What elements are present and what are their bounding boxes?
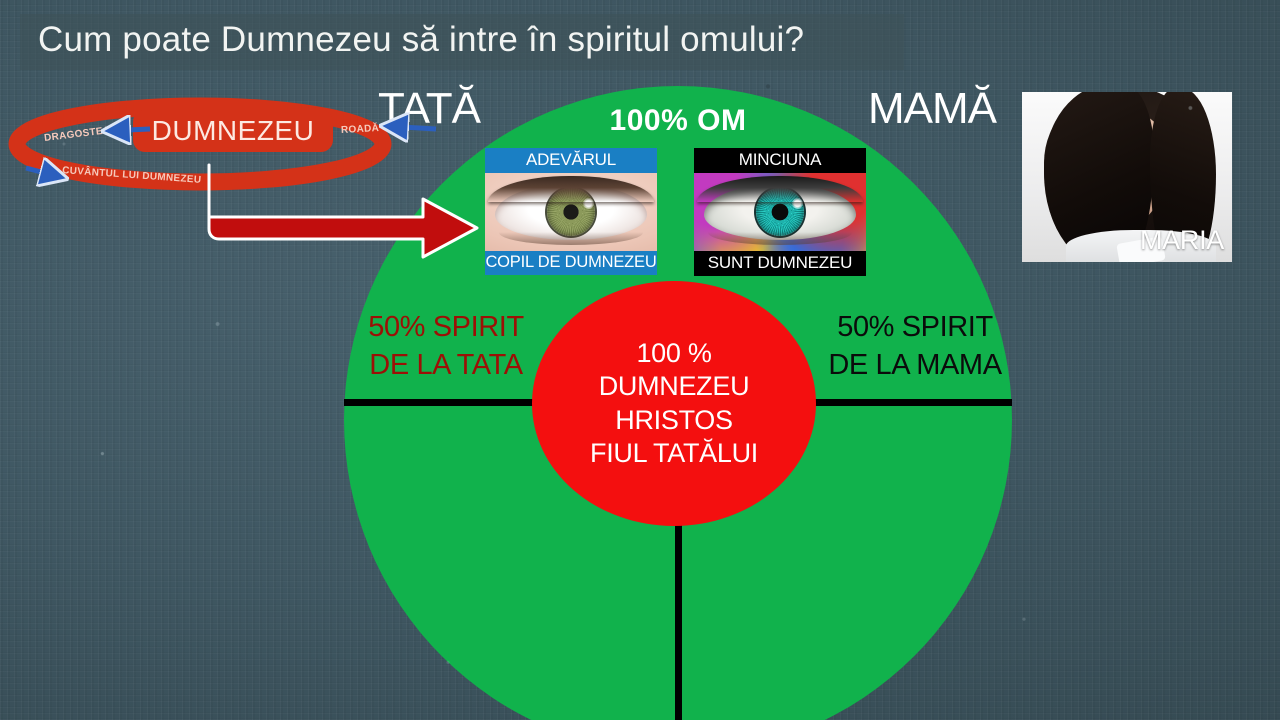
spirit-from-mother-label: 50% SPIRIT DE LA MAMA bbox=[820, 308, 1010, 385]
spirit-entry-arrow-icon bbox=[205, 155, 495, 275]
spirit-mother-line1: 50% SPIRIT bbox=[837, 311, 993, 343]
card-lie-top-caption: MINCIUNA bbox=[694, 148, 866, 173]
card-truth-top-caption: ADEVĂRUL bbox=[485, 148, 657, 173]
center-line-1: 100 % bbox=[636, 337, 711, 370]
arrow-roada-icon bbox=[378, 118, 444, 140]
loop-label-roada: ROADĂ bbox=[341, 123, 380, 136]
spirit-father-line2: DE LA TATA bbox=[369, 349, 522, 381]
arrow-dragostea-icon bbox=[98, 122, 158, 142]
maria-name-label: MARIA bbox=[1140, 225, 1224, 256]
center-line-3: HRISTOS bbox=[615, 404, 732, 437]
maria-photo-frame: MARIA bbox=[1022, 92, 1232, 262]
card-truth: ADEVĂRUL COPIL DE DUMNEZEU bbox=[485, 148, 657, 275]
spirit-father-line1: 50% SPIRIT bbox=[368, 311, 524, 343]
god-node: DUMNEZEU bbox=[133, 110, 333, 152]
center-line-2: DUMNEZEU bbox=[599, 370, 750, 403]
card-lie-bottom-caption: SUNT DUMNEZEU bbox=[694, 251, 866, 276]
card-truth-bottom-caption: COPIL DE DUMNEZEU bbox=[485, 251, 657, 275]
card-lie: MINCIUNA SUNT DUMNEZEU bbox=[694, 148, 866, 276]
spirit-from-father-label: 50% SPIRIT DE LA TATA bbox=[356, 308, 536, 385]
arrow-cuvantul-icon bbox=[22, 164, 82, 188]
slide-canvas: Cum poate Dumnezeu să intre în spiritul … bbox=[0, 0, 1280, 720]
center-line-4: FIUL TATĂLUI bbox=[590, 437, 758, 470]
mother-label: MAMĂ bbox=[868, 84, 996, 134]
god-node-label: DUMNEZEU bbox=[152, 115, 315, 147]
christ-center-circle: 100 % DUMNEZEU HRISTOS FIUL TATĂLUI bbox=[532, 281, 816, 526]
green-eye-icon bbox=[485, 173, 657, 251]
teal-eye-icon bbox=[694, 173, 866, 251]
spirit-mother-line2: DE LA MAMA bbox=[828, 349, 1001, 381]
page-title: Cum poate Dumnezeu să intre în spiritul … bbox=[38, 20, 1038, 60]
